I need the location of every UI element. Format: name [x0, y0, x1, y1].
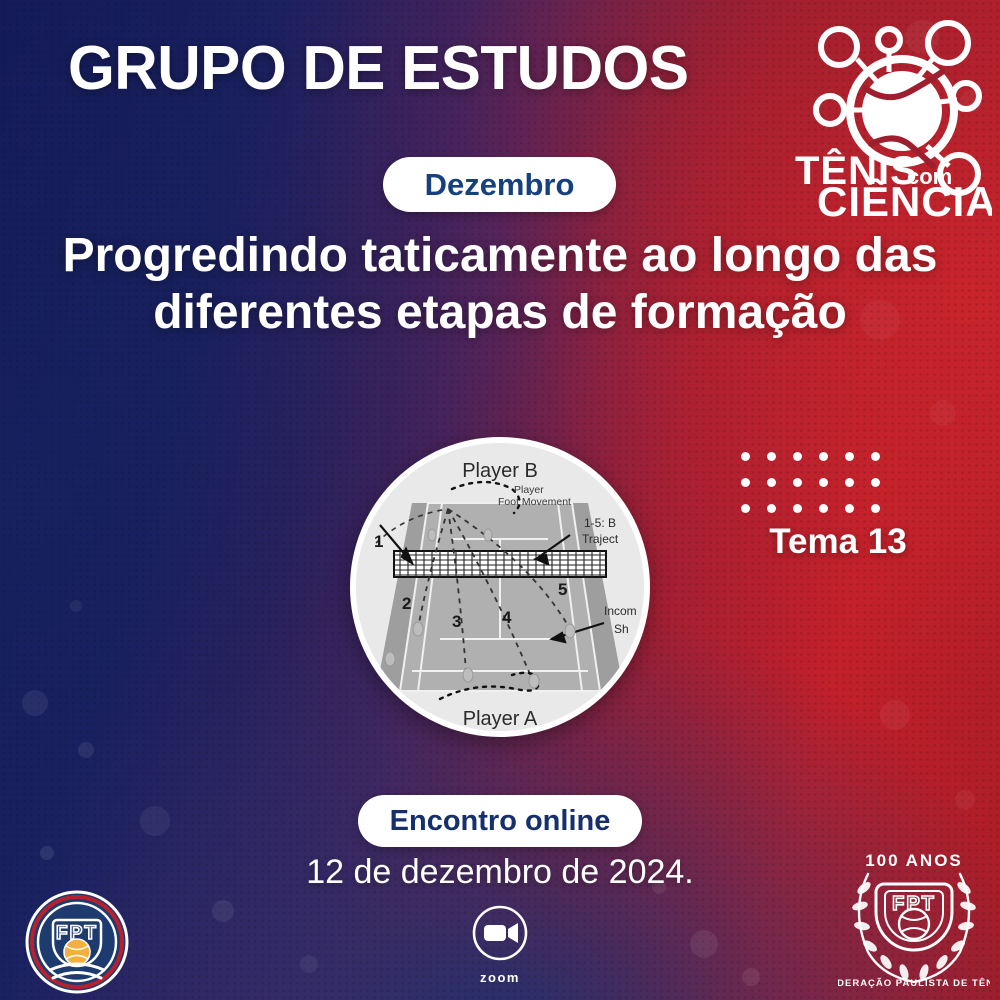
session-subtitle: Progredindo taticamente ao longo das dif…	[60, 228, 940, 341]
svg-text:Player: Player	[514, 484, 544, 496]
svg-text:Traject: Traject	[582, 532, 619, 546]
centenary-caption: FEDERAÇÃO PAULISTA DE TÊNIS	[838, 977, 990, 989]
player-a-label: Player A	[463, 708, 538, 730]
promo-poster: GRUPO DE ESTUDOS T	[0, 0, 1000, 1000]
shot-number-1: 1	[374, 532, 383, 551]
svg-text:Foot Movement: Foot Movement	[498, 496, 571, 508]
meeting-badge[interactable]: Encontro online	[358, 795, 642, 847]
page-title: GRUPO DE ESTUDOS	[68, 36, 747, 101]
zoom-logo[interactable]: zoom	[470, 903, 530, 985]
zoom-camera-icon	[470, 903, 530, 963]
shot-number-5: 5	[558, 580, 567, 599]
centenary-years: 100 ANOS	[865, 851, 963, 870]
laurel-wreath-icon: 100 ANOS FPT	[838, 840, 990, 990]
dot-grid-decoration	[741, 452, 897, 530]
centenary-logo: 100 ANOS FPT	[838, 840, 990, 990]
svg-text:Sh: Sh	[614, 622, 629, 636]
zoom-wordmark: zoom	[470, 970, 530, 985]
court-diagram-image: 1 2 3 4 5 Player B Player A Player Foot …	[356, 443, 644, 731]
svg-text:1-5: B: 1-5: B	[584, 516, 616, 530]
shot-number-3: 3	[452, 612, 461, 631]
player-b-label: Player B	[462, 460, 538, 482]
court-diagram-circle: 1 2 3 4 5 Player B Player A Player Foot …	[350, 437, 650, 737]
fpt-shield-icon: FPT	[22, 890, 132, 994]
svg-text:Incom: Incom	[604, 604, 637, 618]
theme-label: Tema 13	[718, 522, 958, 562]
brand-line2: CIÊNCIA	[817, 177, 992, 219]
tennis-ball-molecule-icon: TÊNIS com CIÊNCIA	[767, 14, 992, 219]
centenary-monogram: FPT	[892, 893, 936, 915]
event-date: 12 de dezembro de 2024.	[200, 853, 800, 892]
month-badge[interactable]: Dezembro	[383, 157, 616, 212]
shot-number-2: 2	[402, 594, 411, 613]
tenis-com-ciencia-logo: TÊNIS com CIÊNCIA	[767, 14, 992, 219]
shot-number-4: 4	[502, 608, 512, 627]
fpt-logo: FPT	[22, 890, 132, 994]
